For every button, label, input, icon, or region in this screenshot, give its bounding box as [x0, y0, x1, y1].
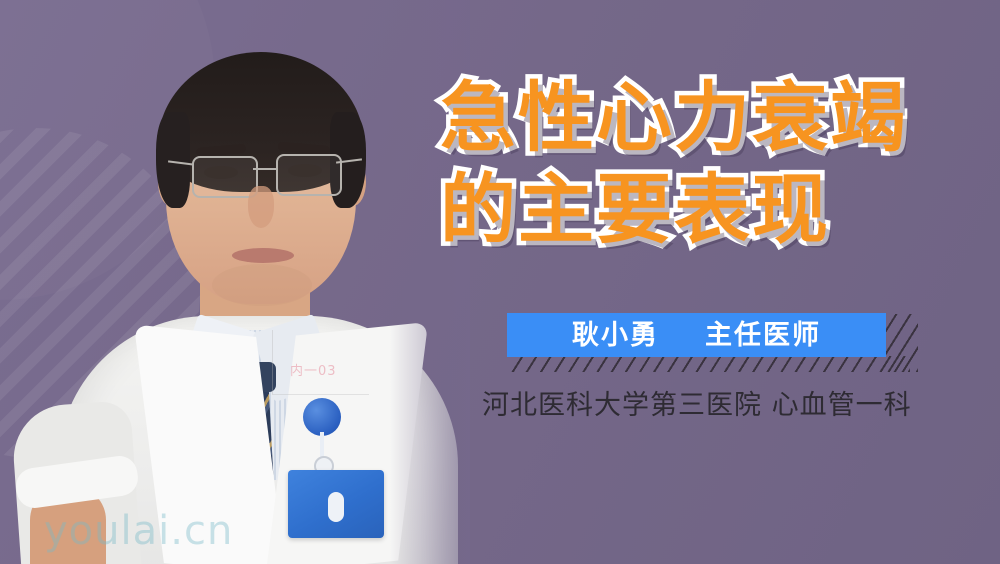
portrait-mouth	[232, 248, 294, 263]
hatch-decoration-right	[886, 314, 918, 372]
portrait-eyeglass-bridge	[253, 168, 278, 170]
portrait-eyeglass-lens-left	[192, 156, 258, 198]
title-line-1: 急性心力衰竭	[440, 72, 980, 164]
page-title: 急性心力衰竭 的主要表现	[440, 72, 980, 256]
doctor-name-banner: 耿小勇 主任医师	[507, 313, 886, 357]
portrait-chin-shading	[212, 264, 312, 306]
title-line-2: 的主要表现	[440, 164, 980, 256]
portrait-pocket-embroidery: 内一03	[290, 360, 337, 379]
site-watermark: youlai.cn	[44, 508, 233, 554]
id-badge-reel-icon	[303, 398, 341, 436]
affiliation-text: 河北医科大学第三医院 心血管一科	[482, 383, 912, 422]
id-badge-slot	[328, 492, 344, 522]
doctor-portrait-photo: 内一03	[0, 0, 470, 564]
thumbnail-canvas: 内一03 急性心力衰竭 的主要表现 耿小勇 主任医师	[0, 0, 1000, 564]
doctor-name: 耿小勇	[572, 322, 659, 349]
portrait-hair-side-left	[156, 112, 190, 208]
hatch-decoration-bottom	[510, 356, 910, 372]
doctor-title: 主任医师	[705, 322, 821, 349]
portrait-nose	[248, 186, 274, 228]
portrait-eyeglass-lens-right	[276, 154, 342, 196]
